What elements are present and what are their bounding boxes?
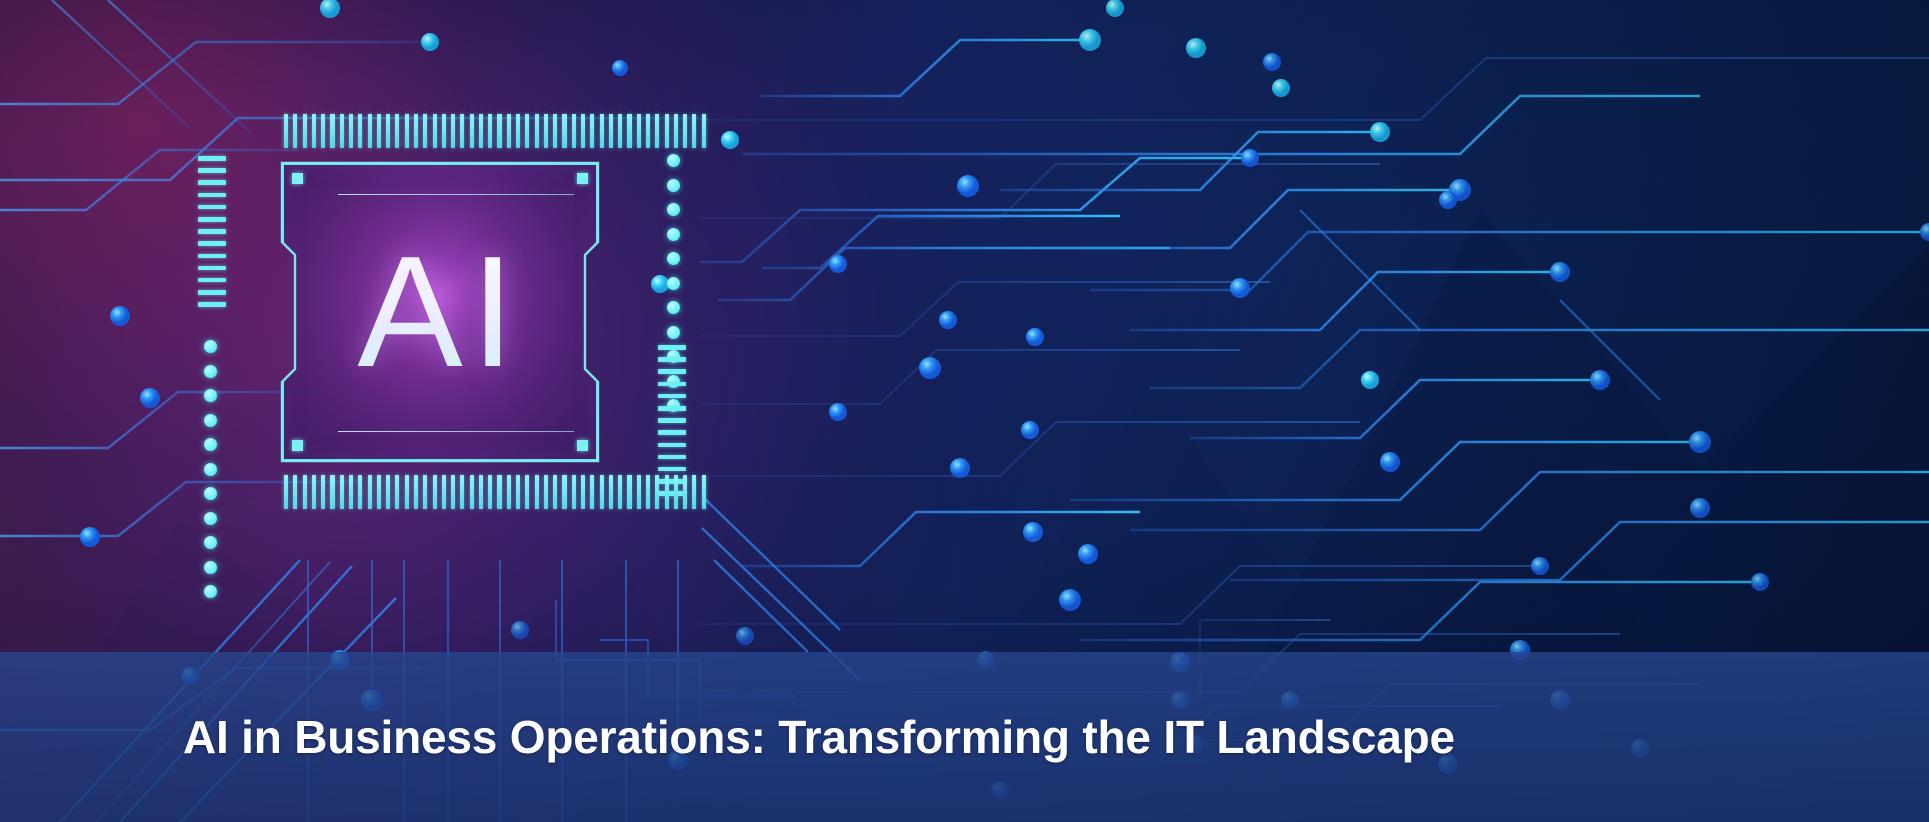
- chip-pin: [609, 114, 613, 148]
- chip-pin: [581, 475, 585, 509]
- chip-dot: [204, 487, 217, 500]
- chip-pin: [646, 114, 650, 148]
- chip-pin: [377, 114, 381, 148]
- chip-pin: [590, 114, 594, 148]
- chip-pin: [349, 114, 353, 148]
- chip-pin: [674, 114, 678, 148]
- chip-dash: [198, 229, 226, 234]
- chip-dash: [198, 241, 226, 246]
- chip-pin: [470, 475, 474, 509]
- chip-pin: [590, 475, 594, 509]
- chip-pin: [405, 475, 409, 509]
- chip-pin: [321, 475, 325, 509]
- chip-pin: [330, 114, 334, 148]
- chip-pin: [303, 114, 307, 148]
- chip-pin: [395, 475, 399, 509]
- chip-pin: [433, 475, 437, 509]
- chip-pin: [702, 114, 706, 148]
- chip-pin: [497, 114, 501, 148]
- chip-left-dots: [204, 340, 217, 610]
- chip-pin: [535, 475, 539, 509]
- chip-pin: [433, 114, 437, 148]
- chip-dot: [667, 326, 680, 339]
- chip-pins-top: [284, 114, 706, 148]
- chip-pin: [414, 114, 418, 148]
- chip-dot: [204, 389, 217, 402]
- chip-pin: [525, 475, 529, 509]
- chip-pin: [683, 114, 687, 148]
- chip-pin: [627, 475, 631, 509]
- chip-dash: [198, 254, 226, 259]
- chip-pin: [507, 114, 511, 148]
- chip-dot: [204, 585, 217, 598]
- chip-pin: [340, 475, 344, 509]
- chip-pin: [368, 475, 372, 509]
- chip-pin: [312, 114, 316, 148]
- chip-dash: [198, 156, 226, 161]
- chip-dash: [198, 205, 226, 210]
- chip-pin: [442, 114, 446, 148]
- chip-dot: [204, 365, 217, 378]
- chip-dot: [667, 252, 680, 265]
- chip-pin: [665, 475, 669, 509]
- chip-dash: [658, 455, 686, 460]
- chip-pin: [683, 475, 687, 509]
- chip-pin: [535, 114, 539, 148]
- chip-pin: [655, 114, 659, 148]
- chip-pin: [544, 475, 548, 509]
- chip-pin: [618, 114, 622, 148]
- chip-pin: [516, 114, 520, 148]
- chip-pin: [303, 475, 307, 509]
- chip-pin: [497, 475, 501, 509]
- chip-pin: [460, 475, 464, 509]
- chip-pin: [488, 475, 492, 509]
- chip-pin: [349, 475, 353, 509]
- chip-pin: [572, 475, 576, 509]
- chip-pin: [525, 114, 529, 148]
- chip-corner-pad-bottom-left: [292, 440, 303, 451]
- chip-dot: [667, 228, 680, 241]
- chip-pin: [395, 114, 399, 148]
- chip-pin: [600, 475, 604, 509]
- chip-pin: [692, 475, 696, 509]
- chip-pin: [488, 114, 492, 148]
- chip-dot: [667, 203, 680, 216]
- chip-pin: [655, 475, 659, 509]
- chip-dash: [658, 345, 686, 350]
- chip-pin: [340, 114, 344, 148]
- chip-dot: [667, 154, 680, 167]
- chip-dash: [658, 430, 686, 435]
- chip-dash: [198, 278, 226, 283]
- chip-dot: [204, 438, 217, 451]
- chip-pin: [516, 475, 520, 509]
- chip-pin: [377, 475, 381, 509]
- chip-dash: [198, 266, 226, 271]
- chip-dot: [204, 561, 217, 574]
- chip-dash: [198, 217, 226, 222]
- chip-pin: [405, 114, 409, 148]
- chip-pin: [284, 475, 288, 509]
- chip-pin: [544, 114, 548, 148]
- chip-pin: [321, 114, 325, 148]
- chip-pin: [386, 114, 390, 148]
- chip-dash: [658, 394, 686, 399]
- chip-dash: [658, 382, 686, 387]
- chip-pin: [330, 475, 334, 509]
- chip-pin: [451, 475, 455, 509]
- chip-pin: [581, 114, 585, 148]
- ai-chip: AI: [186, 92, 698, 542]
- chip-dash: [198, 168, 226, 173]
- chip-pin: [553, 475, 557, 509]
- chip-rule-bottom: [338, 431, 574, 432]
- chip-pin: [368, 114, 372, 148]
- page-title: AI in Business Operations: Transforming …: [183, 710, 1455, 764]
- chip-dash: [658, 418, 686, 423]
- chip-pin: [627, 114, 631, 148]
- chip-pin: [358, 475, 362, 509]
- chip-dash: [658, 443, 686, 448]
- chip-pin: [414, 475, 418, 509]
- title-bar: AI in Business Operations: Transforming …: [0, 652, 1929, 822]
- chip-dot: [667, 301, 680, 314]
- chip-pin: [293, 475, 297, 509]
- chip-dash: [658, 369, 686, 374]
- chip-pin: [470, 114, 474, 148]
- chip-corner-pad-bottom-right: [577, 440, 588, 451]
- chip-pin: [479, 475, 483, 509]
- chip-pins-bottom: [284, 475, 706, 509]
- chip-pin: [553, 114, 557, 148]
- chip-pin: [312, 475, 316, 509]
- chip-pin: [460, 114, 464, 148]
- chip-dot: [667, 277, 680, 290]
- chip-dot: [204, 340, 217, 353]
- chip-pin: [674, 475, 678, 509]
- chip-pin: [692, 114, 696, 148]
- chip-pin: [479, 114, 483, 148]
- chip-left-dashes: [198, 156, 226, 314]
- chip-dash: [198, 180, 226, 185]
- chip-corner-pad-top-right: [577, 173, 588, 184]
- chip-pin: [386, 475, 390, 509]
- chip-pin: [665, 114, 669, 148]
- chip-dash: [198, 193, 226, 198]
- chip-pin: [637, 475, 641, 509]
- chip-pin: [423, 475, 427, 509]
- chip-dot: [204, 512, 217, 525]
- chip-dash: [658, 357, 686, 362]
- ai-banner: AI AI in Business Operations: Transformi…: [0, 0, 1929, 822]
- chip-pin: [637, 114, 641, 148]
- chip-ai-label: AI: [282, 233, 598, 391]
- chip-pin: [609, 475, 613, 509]
- chip-dash: [658, 467, 686, 472]
- chip-pin: [293, 114, 297, 148]
- chip-body: AI: [282, 163, 598, 461]
- chip-pin: [442, 475, 446, 509]
- chip-pin: [451, 114, 455, 148]
- chip-pin: [600, 114, 604, 148]
- chip-dash: [658, 406, 686, 411]
- chip-pin: [358, 114, 362, 148]
- chip-rule-top: [338, 194, 574, 195]
- chip-pin: [562, 475, 566, 509]
- chip-pin: [284, 114, 288, 148]
- chip-dot: [204, 536, 217, 549]
- chip-dot: [204, 414, 217, 427]
- chip-pin: [646, 475, 650, 509]
- chip-corner-pad-top-left: [292, 173, 303, 184]
- chip-dash: [198, 302, 226, 307]
- chip-dot: [204, 463, 217, 476]
- chip-dash: [198, 290, 226, 295]
- chip-pin: [618, 475, 622, 509]
- chip-pin: [423, 114, 427, 148]
- chip-pin: [702, 475, 706, 509]
- chip-pin: [562, 114, 566, 148]
- chip-pin: [507, 475, 511, 509]
- chip-pin: [572, 114, 576, 148]
- chip-dot: [667, 179, 680, 192]
